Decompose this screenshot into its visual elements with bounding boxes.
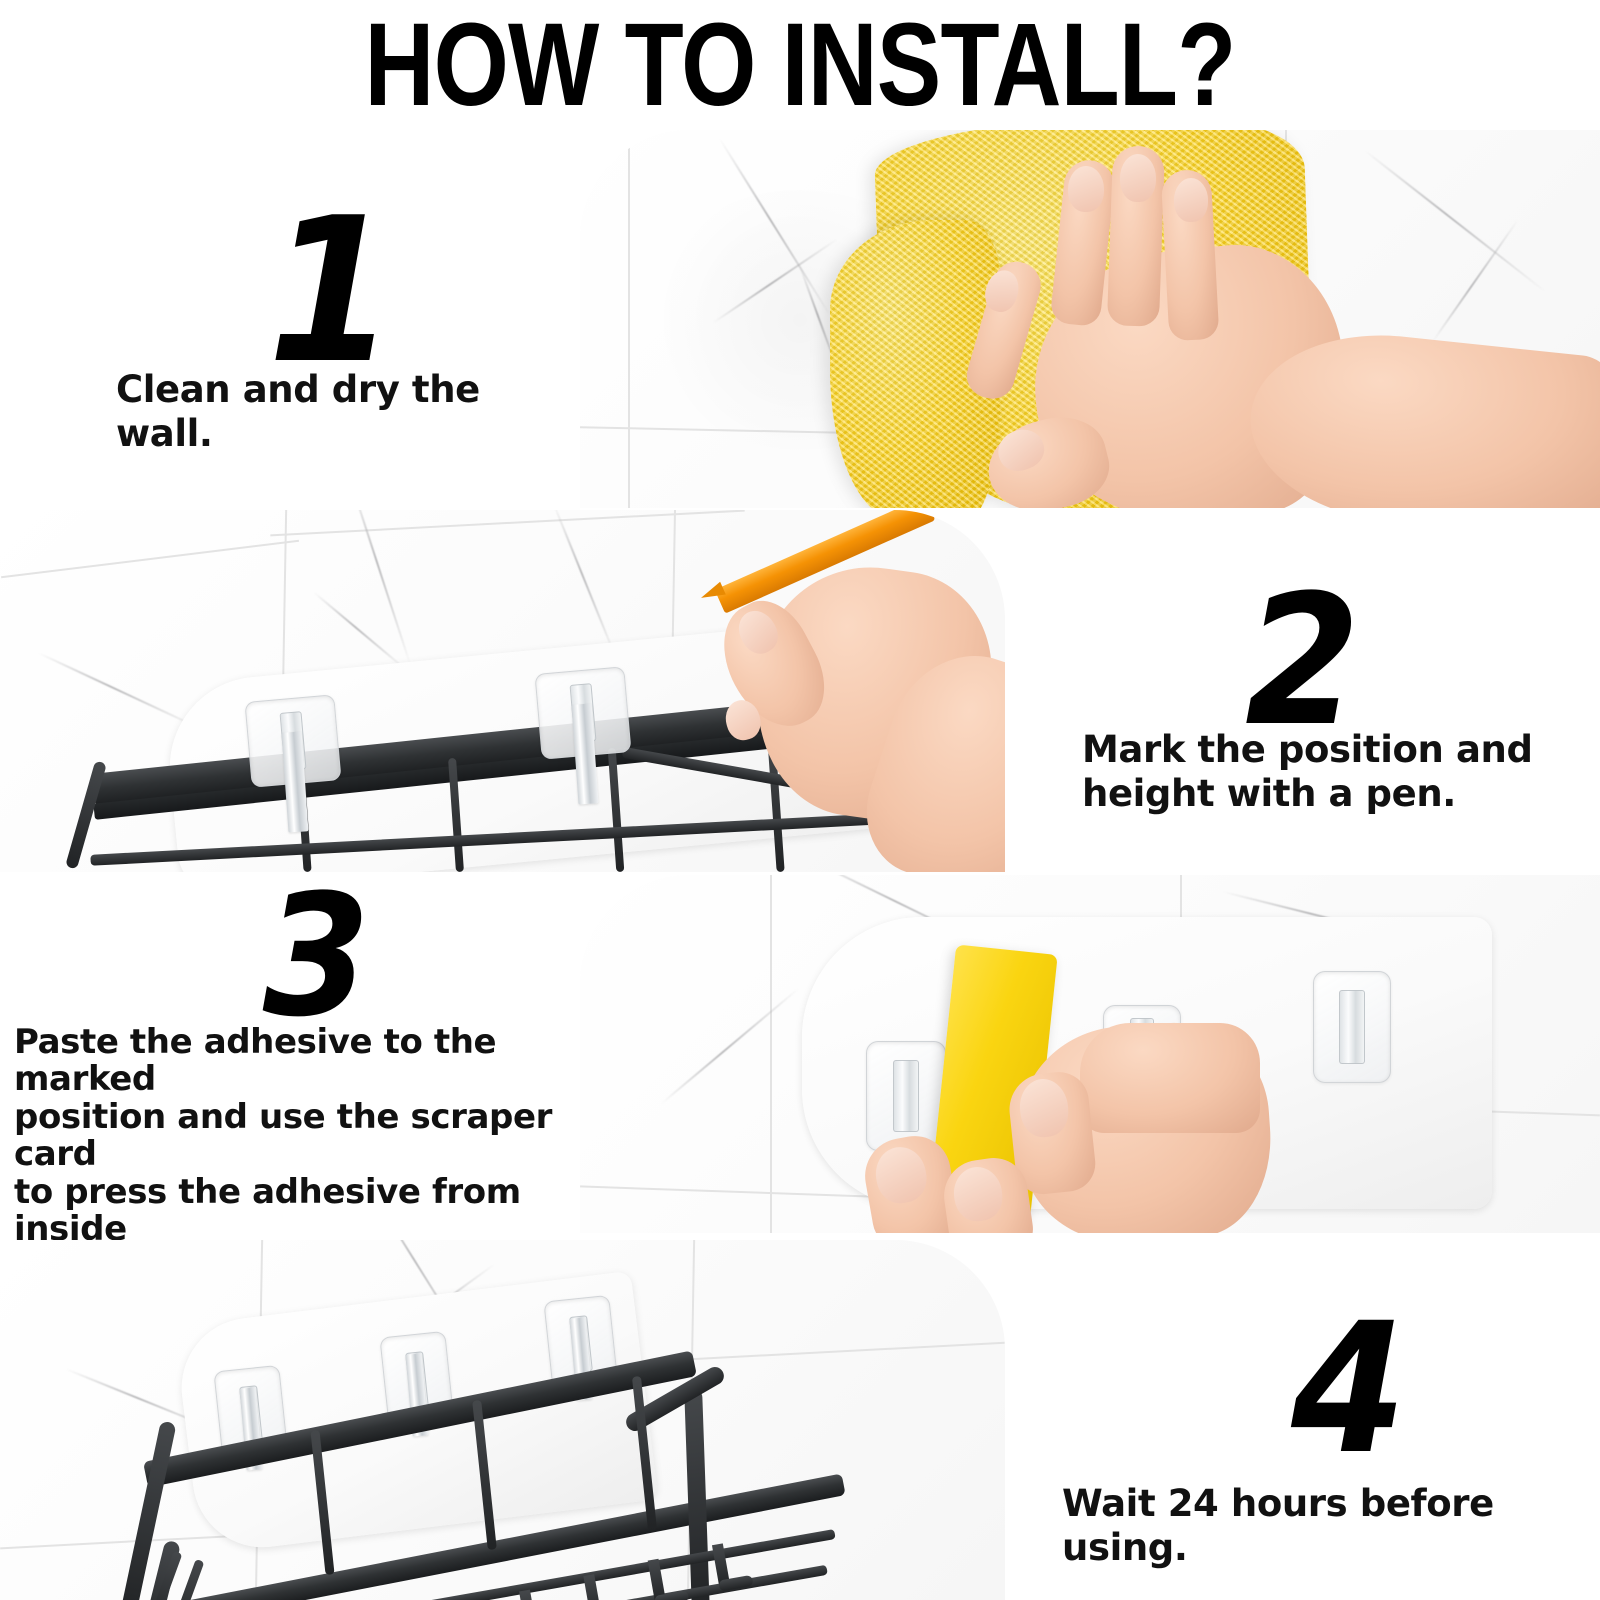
step-3-caption-line-3: to press the adhesive from inside — [14, 1174, 594, 1249]
step-1-number: 1 — [268, 192, 396, 392]
hook-clip-detail — [893, 1060, 919, 1132]
step-1-photo — [580, 130, 1600, 508]
knuckles — [1080, 1023, 1260, 1133]
hook-clip-detail — [1339, 990, 1365, 1064]
step-4-number: 4 — [1291, 1300, 1406, 1480]
step-1-caption: Clean and dry the wall. — [116, 368, 586, 455]
fingernail — [1174, 178, 1208, 222]
hook — [583, 1574, 601, 1600]
step-2-caption: Mark the position and height with a pen. — [1082, 728, 1552, 815]
step-4-caption: Wait 24 hours before using. — [1062, 1482, 1592, 1569]
clear-hook-mount — [1313, 971, 1391, 1083]
step-3-caption-line-2: position and use the scraper card — [14, 1099, 594, 1174]
step-2-caption-line-1: Mark the position and — [1082, 728, 1552, 772]
step-3-photo — [580, 875, 1600, 1233]
step-4-photo — [0, 1240, 1005, 1600]
step-3-caption-line-1: Paste the adhesive to the marked — [14, 1024, 594, 1099]
grout-line — [770, 875, 772, 1233]
fingernail — [1120, 154, 1156, 202]
step-2-caption-line-2: height with a pen. — [1082, 772, 1552, 816]
hook — [519, 1590, 537, 1600]
page-title: HOW TO INSTALL? — [144, 4, 1456, 128]
step-2-number: 2 — [1245, 572, 1360, 752]
fingernail — [1068, 166, 1104, 212]
grout-line — [628, 130, 630, 508]
clear-hook-mount — [866, 1041, 946, 1151]
step-3-number: 3 — [263, 872, 371, 1040]
step-2-photo — [0, 510, 1005, 872]
